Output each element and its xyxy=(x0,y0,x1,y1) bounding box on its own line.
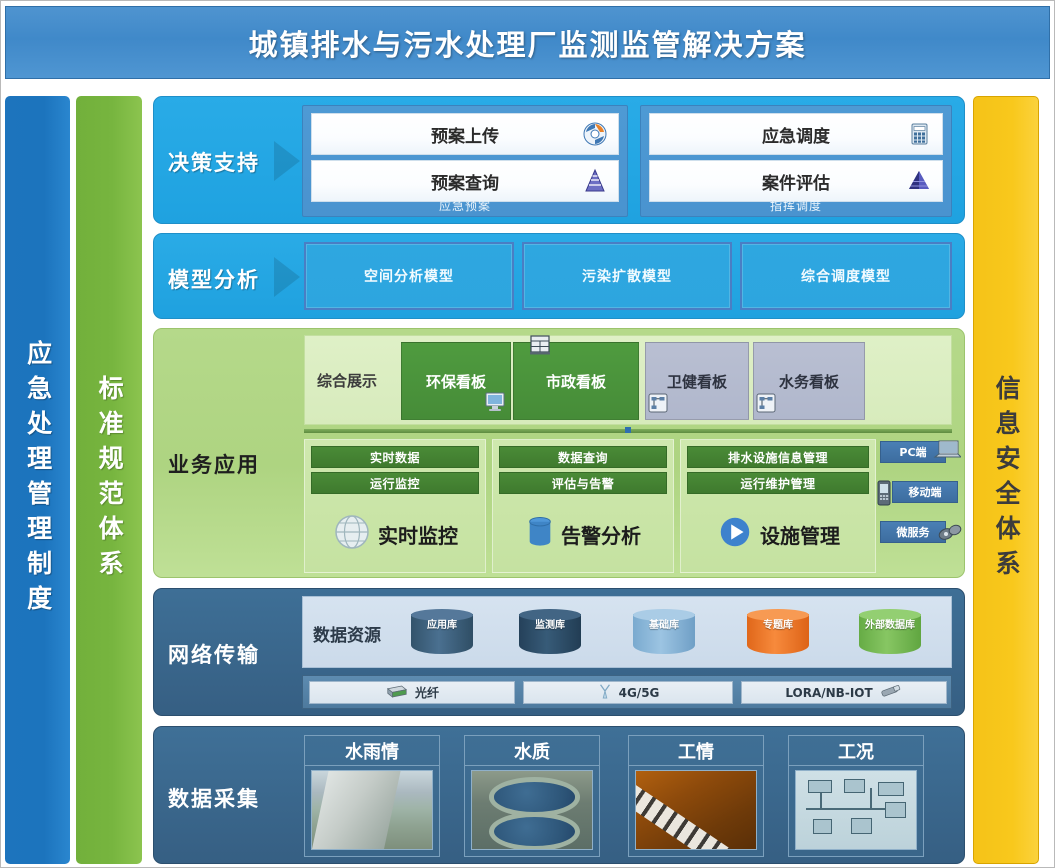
layer-data-collection-label: 数据采集 xyxy=(168,783,260,813)
decision-item-plan-upload-label: 预案上传 xyxy=(431,122,499,147)
page-title-banner: 城镇排水与污水处理厂监测监管解决方案 xyxy=(5,6,1050,79)
database-thematic-label: 专题库 xyxy=(747,620,809,632)
client-button-microservice-label: 微服务 xyxy=(897,524,930,540)
business-bar-operation-monitoring[interactable]: 运行监控 xyxy=(311,472,479,494)
play-circle-icon xyxy=(716,513,754,556)
database-monitoring[interactable]: 监测库 xyxy=(519,609,581,657)
client-buttons: PC端 移动端 xyxy=(880,437,958,557)
decision-item-plan-query-label: 预案查询 xyxy=(431,169,499,194)
database-application[interactable]: 应用库 xyxy=(411,609,473,657)
business-bar-data-query-label: 数据查询 xyxy=(558,449,608,466)
decision-item-case-assessment-label: 案件评估 xyxy=(762,169,830,194)
model-item-integrated-dispatch[interactable]: 综合调度模型 xyxy=(740,242,952,310)
model-item-pollution-diffusion-label: 污染扩散模型 xyxy=(582,266,672,286)
transmission-link-lora[interactable]: LORA/NB-IOT xyxy=(741,681,947,704)
collection-card-working-condition[interactable]: 工况 xyxy=(788,735,924,857)
mobile-icon xyxy=(875,480,893,509)
model-item-spatial[interactable]: 空间分析模型 xyxy=(304,242,514,310)
scada-schematic-photo xyxy=(795,770,917,850)
business-bar-drainage-facility-info-label: 排水设施信息管理 xyxy=(728,449,828,466)
client-button-mobile-label: 移动端 xyxy=(909,484,942,500)
pyramid-icon xyxy=(582,168,608,194)
comprehensive-display-panel: 综合展示 环保看板 市政看板 xyxy=(304,335,952,425)
business-feature-alarm-analysis-label: 告警分析 xyxy=(561,520,641,549)
database-foundation[interactable]: 基础库 xyxy=(633,609,695,657)
sedimentation-tank-photo xyxy=(471,770,593,850)
kanban-environment-label: 环保看板 xyxy=(426,371,486,392)
data-resource-label: 数据资源 xyxy=(313,621,381,646)
pillar-information-security-label: 信息安全体系 xyxy=(993,375,1019,585)
transmission-link-fiber[interactable]: 光纤 xyxy=(309,681,515,704)
pillar-standards-system-label: 标准规范体系 xyxy=(96,375,122,585)
model-item-pollution-diffusion[interactable]: 污染扩散模型 xyxy=(522,242,732,310)
layer-network-transmission: 网络传输 数据资源 应用库 监测库 基础库 xyxy=(153,588,965,716)
pillar-information-security: 信息安全体系 xyxy=(973,96,1039,864)
business-bar-operation-monitoring-label: 运行监控 xyxy=(370,475,420,492)
database-application-label: 应用库 xyxy=(411,620,473,632)
fiber-icon xyxy=(385,684,409,702)
flowchart-icon xyxy=(756,393,776,417)
decision-item-emergency-dispatch[interactable]: 应急调度 xyxy=(649,113,943,155)
kanban-water-affairs-label: 水务看板 xyxy=(779,371,839,392)
database-foundation-label: 基础库 xyxy=(633,620,695,632)
decision-group-emergency-plan: 预案上传 预案查询 xyxy=(302,105,628,217)
kanban-water-affairs[interactable]: 水务看板 xyxy=(753,342,865,420)
pyramid-3d-icon xyxy=(906,168,932,194)
globe-icon xyxy=(332,512,372,557)
client-button-microservice[interactable]: 微服务 xyxy=(880,521,946,543)
decision-group-emergency-plan-caption: 应急预案 xyxy=(303,197,627,214)
kanban-municipal[interactable]: 市政看板 xyxy=(513,342,639,420)
decision-group-command-dispatch-caption: 指挥调度 xyxy=(641,197,951,214)
collection-card-working-condition-label: 工况 xyxy=(789,736,923,766)
database-thematic[interactable]: 专题库 xyxy=(747,609,809,657)
collection-card-project-status-label: 工情 xyxy=(629,736,763,766)
business-bar-drainage-facility-info[interactable]: 排水设施信息管理 xyxy=(687,446,869,468)
business-column-alarm: 数据查询 评估与告警 告警分析 xyxy=(492,439,674,573)
window-icon xyxy=(528,333,552,361)
collection-card-rainfall[interactable]: 水雨情 xyxy=(304,735,440,857)
business-column-monitoring: 实时数据 运行监控 实时监控 xyxy=(304,439,486,573)
transmission-link-lora-label: LORA/NB-IOT xyxy=(785,686,872,700)
collection-card-water-quality-label: 水质 xyxy=(465,736,599,766)
layer-data-collection: 数据采集 水雨情 水质 工情 工况 xyxy=(153,726,965,864)
kanban-municipal-label: 市政看板 xyxy=(546,371,606,392)
collection-card-rainfall-label: 水雨情 xyxy=(305,736,439,766)
collection-card-water-quality[interactable]: 水质 xyxy=(464,735,600,857)
business-bar-data-query[interactable]: 数据查询 xyxy=(499,446,667,468)
transmission-links: 光纤 4G/5G LORA/NB-IOT xyxy=(302,675,952,709)
comprehensive-display-label: 综合展示 xyxy=(317,370,377,391)
layer-model-analysis: 模型分析 空间分析模型 污染扩散模型 综合调度模型 xyxy=(153,233,965,319)
layer-business-application-label: 业务应用 xyxy=(168,449,260,479)
database-external-label: 外部数据库 xyxy=(859,620,921,632)
business-feature-realtime-monitoring[interactable]: 实时监控 xyxy=(311,502,479,566)
kanban-environment[interactable]: 环保看板 xyxy=(401,342,511,420)
monitor-icon xyxy=(484,390,506,416)
layer-business-application: 业务应用 综合展示 环保看板 市政看板 xyxy=(153,328,965,578)
service-icon xyxy=(937,522,963,547)
calculator-icon xyxy=(906,121,932,147)
business-bar-realtime-data[interactable]: 实时数据 xyxy=(311,446,479,468)
model-item-spatial-label: 空间分析模型 xyxy=(364,266,454,286)
business-feature-facility-management[interactable]: 设施管理 xyxy=(687,502,869,566)
pillar-emergency-management: 应急处理管理制度 xyxy=(5,96,70,864)
decision-group-command-dispatch: 应急调度 案件评估 xyxy=(640,105,952,217)
model-item-integrated-dispatch-label: 综合调度模型 xyxy=(801,266,891,286)
flowchart-icon xyxy=(648,393,668,417)
database-external[interactable]: 外部数据库 xyxy=(859,609,921,657)
client-button-pc-label: PC端 xyxy=(899,444,926,460)
pillar-emergency-management-label: 应急处理管理制度 xyxy=(24,340,50,620)
transmission-link-4g5g-label: 4G/5G xyxy=(619,686,660,700)
riverbank-photo xyxy=(311,770,433,850)
decision-item-plan-upload[interactable]: 预案上传 xyxy=(311,113,619,155)
business-bar-operation-maintenance-label: 运行维护管理 xyxy=(740,475,815,492)
database-monitoring-label: 监测库 xyxy=(519,620,581,632)
pillar-standards-system: 标准规范体系 xyxy=(76,96,142,864)
transmission-link-4g5g[interactable]: 4G/5G xyxy=(523,681,733,704)
business-bar-realtime-data-label: 实时数据 xyxy=(370,449,420,466)
layer-network-transmission-label: 网络传输 xyxy=(168,639,260,669)
database-icon xyxy=(525,513,555,556)
transmission-link-fiber-label: 光纤 xyxy=(415,684,439,701)
decision-item-case-assessment[interactable]: 案件评估 xyxy=(649,160,943,202)
pipeline-trench-photo xyxy=(635,770,757,850)
main-stack: 决策支持 预案上传 预案查询 xyxy=(153,96,965,866)
business-feature-facility-management-label: 设施管理 xyxy=(760,520,840,549)
kanban-health-label: 卫健看板 xyxy=(667,371,727,392)
client-button-mobile[interactable]: 移动端 xyxy=(892,481,958,503)
data-resource-panel: 数据资源 应用库 监测库 基础库 xyxy=(302,596,952,668)
business-bar-operation-maintenance[interactable]: 运行维护管理 xyxy=(687,472,869,494)
layer-decision-support: 决策支持 预案上传 预案查询 xyxy=(153,96,965,224)
sensor-icon xyxy=(879,684,903,702)
business-bar-assessment-alarm[interactable]: 评估与告警 xyxy=(499,472,667,494)
business-divider xyxy=(304,429,952,433)
antenna-icon xyxy=(597,683,613,702)
business-bar-assessment-alarm-label: 评估与告警 xyxy=(552,475,615,492)
decision-item-emergency-dispatch-label: 应急调度 xyxy=(762,122,830,147)
page-title: 城镇排水与污水处理厂监测监管解决方案 xyxy=(6,22,1049,64)
kanban-health[interactable]: 卫健看板 xyxy=(645,342,749,420)
decision-item-plan-query[interactable]: 预案查询 xyxy=(311,160,619,202)
business-column-facility: 排水设施信息管理 运行维护管理 设施管理 xyxy=(680,439,876,573)
collection-card-project-status[interactable]: 工情 xyxy=(628,735,764,857)
layer-decision-support-label: 决策支持 xyxy=(168,147,260,177)
architecture-diagram: 城镇排水与污水处理厂监测监管解决方案 应急处理管理制度 标准规范体系 信息安全体… xyxy=(0,0,1055,868)
layer-model-analysis-label: 模型分析 xyxy=(168,264,260,294)
recycle-icon xyxy=(582,121,608,147)
business-feature-alarm-analysis[interactable]: 告警分析 xyxy=(499,502,667,566)
client-button-pc[interactable]: PC端 xyxy=(880,441,946,463)
laptop-icon xyxy=(933,438,961,465)
business-feature-realtime-monitoring-label: 实时监控 xyxy=(378,520,458,549)
